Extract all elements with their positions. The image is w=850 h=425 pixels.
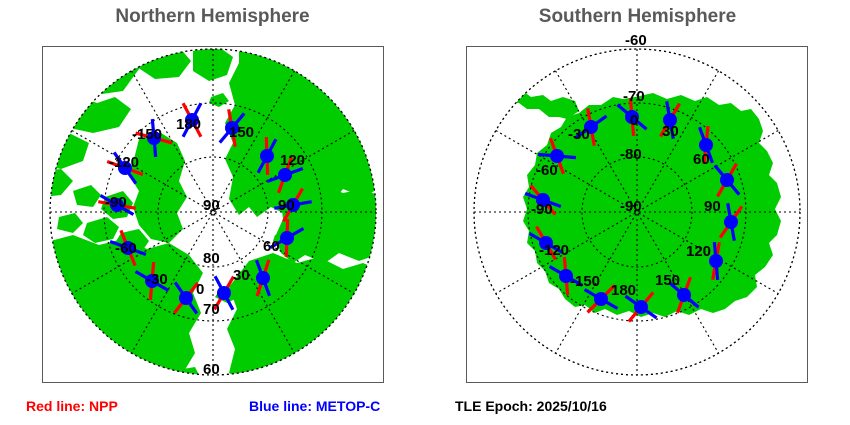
grid-label: 60	[263, 239, 280, 254]
satellite-marker	[256, 260, 270, 296]
grid-label: 120	[686, 244, 711, 259]
satellite-dot	[724, 215, 738, 229]
grid-label: 30	[233, 268, 250, 283]
legend-red-line-npp: Red line: NPP	[26, 398, 118, 414]
grid-label: -60	[115, 241, 137, 256]
grid-label: 150	[655, 273, 680, 288]
grid-label: 80	[203, 251, 220, 266]
grid-label: -90	[105, 195, 127, 210]
satellite-dot	[278, 168, 292, 182]
grid-label: -150	[570, 274, 600, 289]
grid-label: -150	[132, 127, 162, 142]
figure-root: Northern Hemisphere	[0, 0, 850, 425]
legend-tle-epoch: TLE Epoch: 2025/10/16	[455, 398, 607, 414]
grid-label: -90	[620, 199, 642, 214]
satellite-markers-north	[43, 47, 383, 382]
grid-label: 180	[176, 117, 201, 132]
satellite-marker	[258, 137, 276, 175]
grid-label: 180	[611, 283, 636, 298]
panel-title-southern: Southern Hemisphere	[425, 6, 850, 28]
satellite-dot	[699, 138, 713, 152]
grid-label: -60	[536, 163, 558, 178]
grid-label: 0	[196, 282, 204, 297]
grid-label: -120	[539, 243, 569, 258]
grid-label: 70	[203, 302, 220, 317]
grid-label: -30	[146, 272, 168, 287]
panel-southern-hemisphere: Southern Hemisphere	[425, 0, 850, 425]
grid-label: 90	[704, 199, 721, 214]
grid-label: 60	[203, 362, 220, 377]
satellite-dot	[594, 292, 608, 306]
satellite-marker	[174, 282, 197, 313]
satellite-dot	[720, 173, 734, 187]
satellite-dot	[260, 149, 274, 163]
grid-label: -120	[109, 155, 139, 170]
grid-label: -60	[625, 33, 647, 48]
satellite-marker	[715, 164, 739, 197]
grid-label: 90	[203, 198, 220, 213]
grid-label: -80	[620, 147, 642, 162]
grid-label: 90	[278, 198, 295, 213]
satellite-dot	[280, 231, 294, 245]
grid-label: 0	[630, 113, 638, 128]
legend-blue-line-metop-c: Blue line: METOP-C	[249, 398, 380, 414]
satellite-dot	[709, 254, 723, 268]
grid-label: 150	[229, 125, 254, 140]
grid-label: 120	[280, 153, 305, 168]
satellite-dot	[179, 291, 193, 305]
satellite-marker	[720, 203, 742, 240]
grid-label: -30	[568, 127, 590, 142]
satellite-dot	[550, 149, 564, 163]
panel-title-northern: Northern Hemisphere	[0, 6, 425, 28]
satellite-dot	[256, 271, 270, 285]
grid-label: 30	[662, 124, 679, 139]
grid-label: -70	[623, 89, 645, 104]
satellite-dot	[217, 286, 231, 300]
satellite-dot	[634, 300, 648, 314]
satellite-marker	[709, 242, 723, 280]
grid-label: -90	[531, 202, 553, 217]
satellite-dot	[677, 288, 691, 302]
grid-label: 60	[693, 152, 710, 167]
panel-northern-hemisphere: Northern Hemisphere	[0, 0, 425, 425]
